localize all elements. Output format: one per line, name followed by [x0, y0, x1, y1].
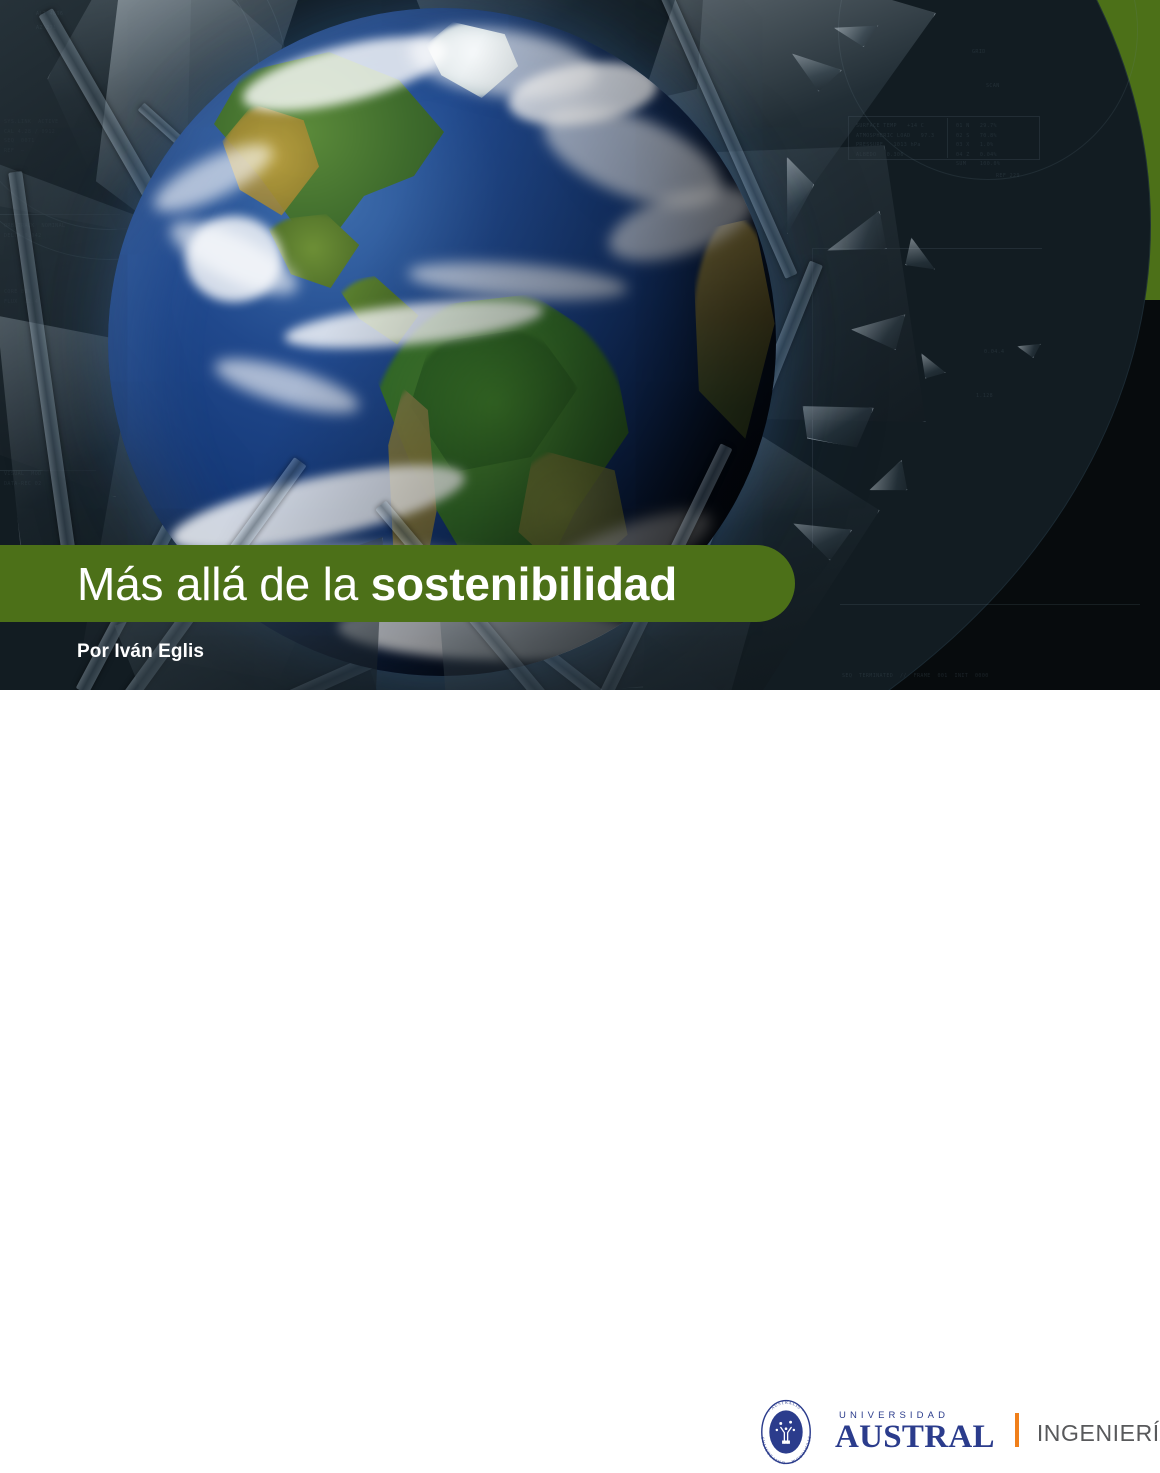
hud-divider: [947, 118, 948, 158]
hud-text: 0.04.4: [984, 348, 1004, 358]
hud-text: REF 229: [996, 172, 1020, 182]
austral-wordmark: UNIVERSIDAD AUSTRAL: [835, 1410, 995, 1454]
austral-name: AUSTRAL: [835, 1422, 995, 1454]
hud-divider: [840, 604, 1140, 605]
title-prefix: Más allá de la: [77, 558, 371, 610]
austral-eyebrow: UNIVERSIDAD: [839, 1410, 995, 1421]
hud-text: 1.128: [976, 392, 993, 402]
title-banner: Más allá de la sostenibilidad: [0, 545, 795, 622]
footer-bar: · AUSTRALIS · STUDIORUM · UNIVERSITAS UN…: [0, 690, 1160, 800]
hud-text: GRID: [972, 48, 986, 58]
hud-text: 01 N 29.7% 02 S 70.8% 03 X 1.0% 04 Z 0.0…: [956, 122, 1000, 170]
faculty-name: INGENIERÍA: [1037, 1420, 1160, 1447]
byline-author: Por Iván Eglis: [77, 641, 204, 663]
title-emphasis: sostenibilidad: [371, 558, 677, 610]
hud-text: SCAN: [986, 82, 1000, 92]
austral-seal-icon: · AUSTRALIS · STUDIORUM · UNIVERSITAS: [753, 1396, 819, 1468]
hero-image: ALT 4096 AZ 271 SYS.LINK ACTIVE CAL 4.28…: [0, 0, 1160, 690]
universidad-austral-logo: · AUSTRALIS · STUDIORUM · UNIVERSITAS UN…: [753, 1395, 1160, 1469]
hud-text: SEQ TERMINATED // FRAME 001 INIT 0000: [842, 672, 989, 682]
page-title: Más allá de la sostenibilidad: [77, 561, 677, 607]
logo-divider: [1015, 1413, 1019, 1447]
